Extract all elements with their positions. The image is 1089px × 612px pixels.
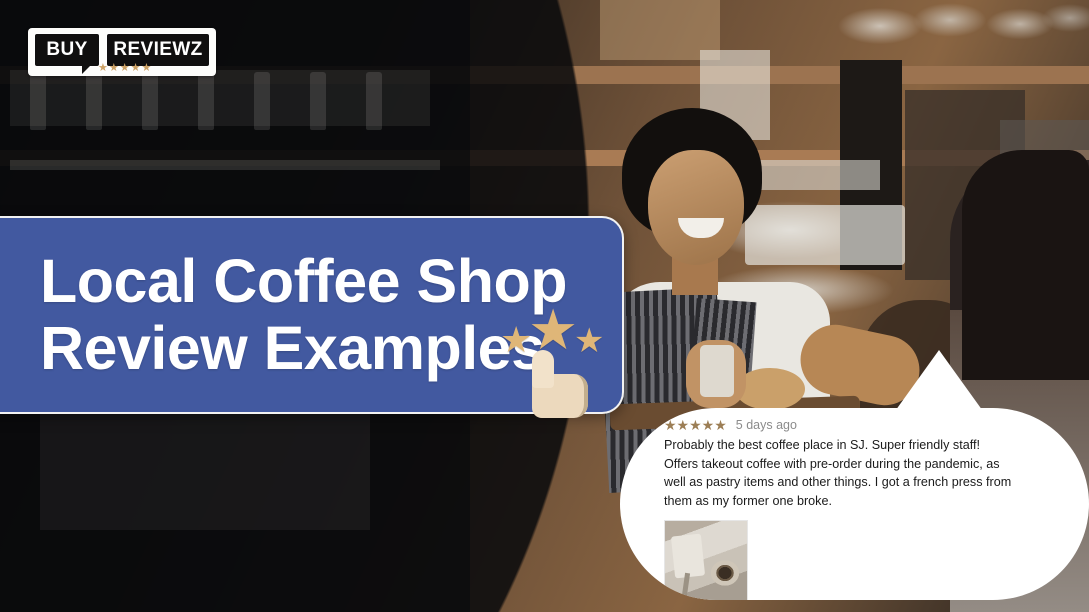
bg-shelf-edge xyxy=(10,160,440,170)
review-photo-thumbnail[interactable] xyxy=(664,520,748,600)
review-speech-bubble: ★★★★★ 5 days ago Probably the best coffe… xyxy=(620,408,1089,600)
logo-stars-icon: ★★★★★ xyxy=(98,63,152,74)
rating-badge: ★ ★ ★ xyxy=(498,300,618,420)
bg-counter-items xyxy=(40,410,370,530)
photo-cup-shape xyxy=(671,534,705,579)
review-timestamp: 5 days ago xyxy=(736,418,797,432)
bg-crockery-stack xyxy=(745,205,905,265)
bg-bottle xyxy=(142,72,158,130)
review-stars-icon: ★★★★★ xyxy=(664,418,727,432)
brand-logo[interactable]: BUY REVIEWZ ★★★★★ xyxy=(28,28,216,76)
review-body-text: Probably the best coffee place in SJ. Su… xyxy=(664,436,1016,510)
review-header: ★★★★★ 5 days ago xyxy=(664,418,1045,432)
bg-bottle xyxy=(310,72,326,130)
thumbs-up-icon xyxy=(526,350,590,418)
bg-bottle xyxy=(198,72,214,130)
page-title: Local Coffee Shop Review Examples xyxy=(40,248,567,382)
poster-canvas: BUY REVIEWZ ★★★★★ Local Coffee Shop Revi… xyxy=(0,0,1089,612)
speech-bubble-tail xyxy=(893,350,985,414)
bg-bottle xyxy=(366,72,382,130)
bg-bottle xyxy=(254,72,270,130)
bg-bottle xyxy=(30,72,46,130)
bg-bottle xyxy=(86,72,102,130)
thumb-up-shape xyxy=(532,350,554,388)
customer-hair xyxy=(962,150,1089,380)
logo-word-buy: BUY xyxy=(34,33,100,67)
